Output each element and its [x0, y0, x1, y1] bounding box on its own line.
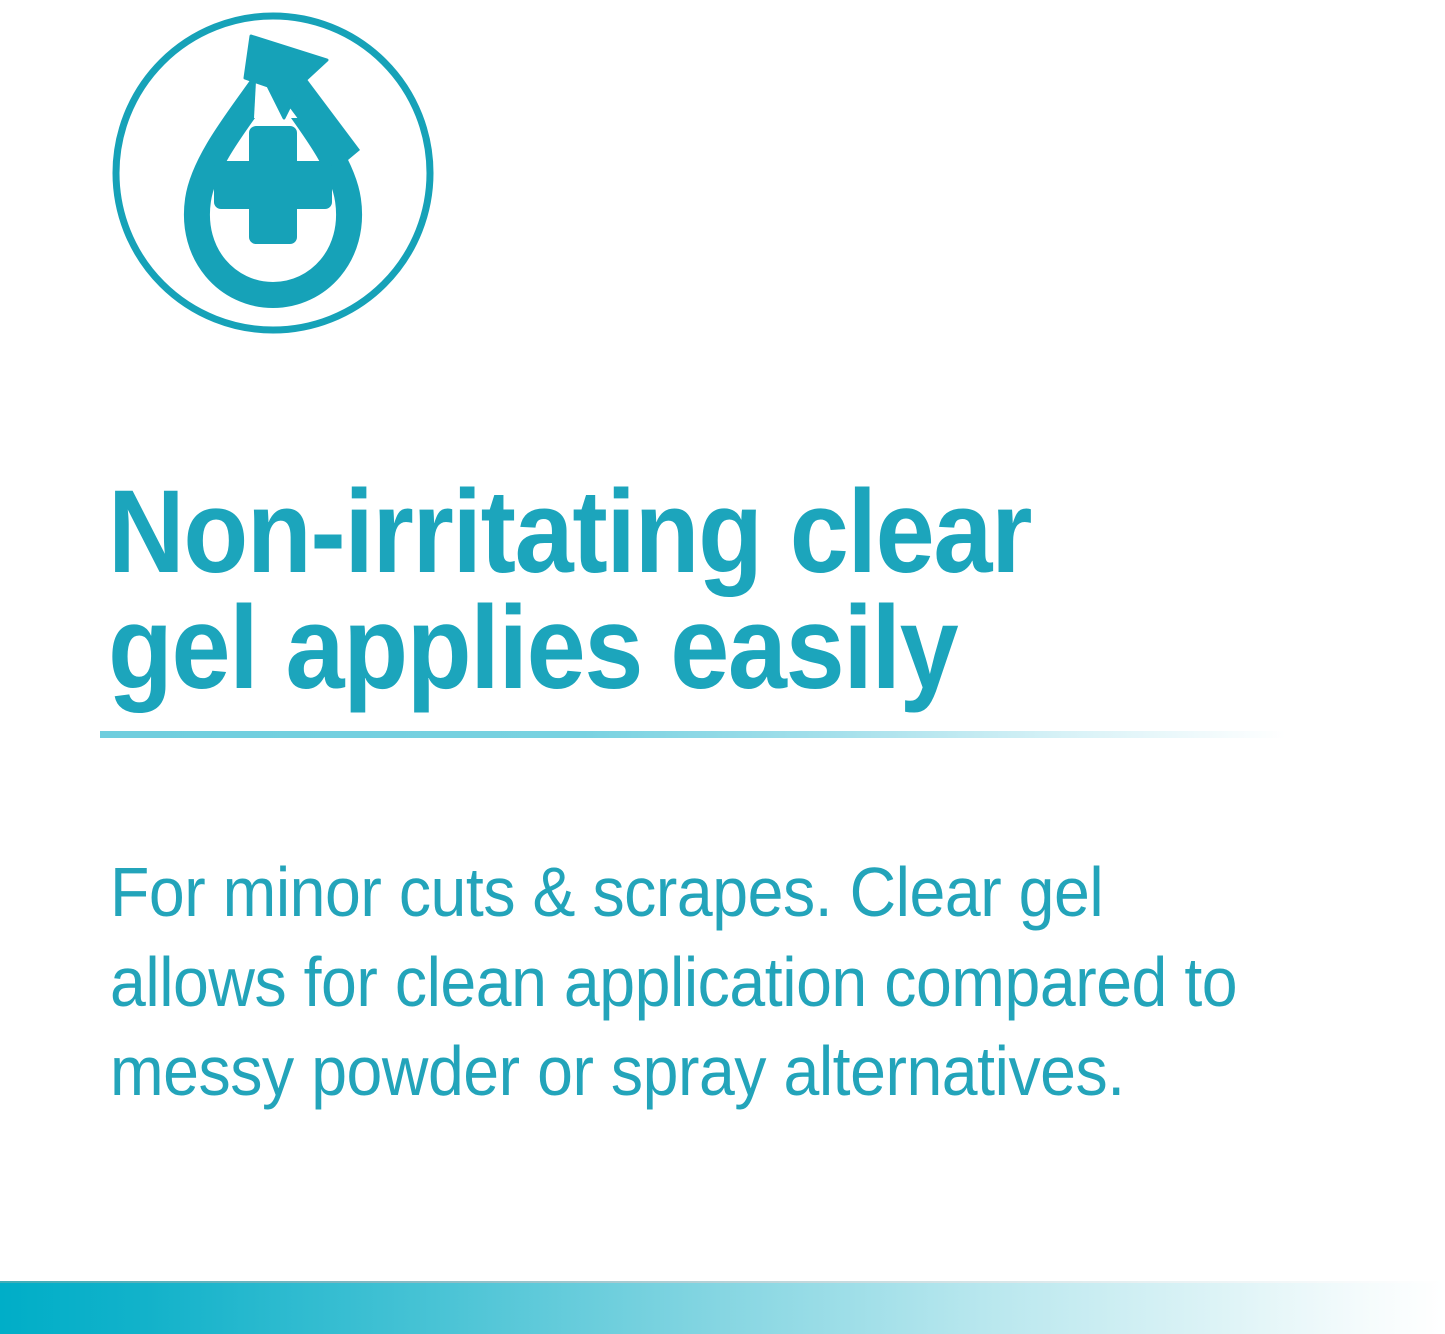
bottom-accent-bar: [0, 1283, 1445, 1334]
divider: [100, 731, 1310, 738]
body-description: For minor cuts & scrapes. Clear gel allo…: [110, 848, 1278, 1117]
droplet-medical-cross-arrow-icon: [108, 8, 438, 338]
product-feature-card: Non-irritating clear gel applies easily …: [0, 0, 1445, 1334]
page-title: Non-irritating clear gel applies easily: [108, 475, 1170, 706]
